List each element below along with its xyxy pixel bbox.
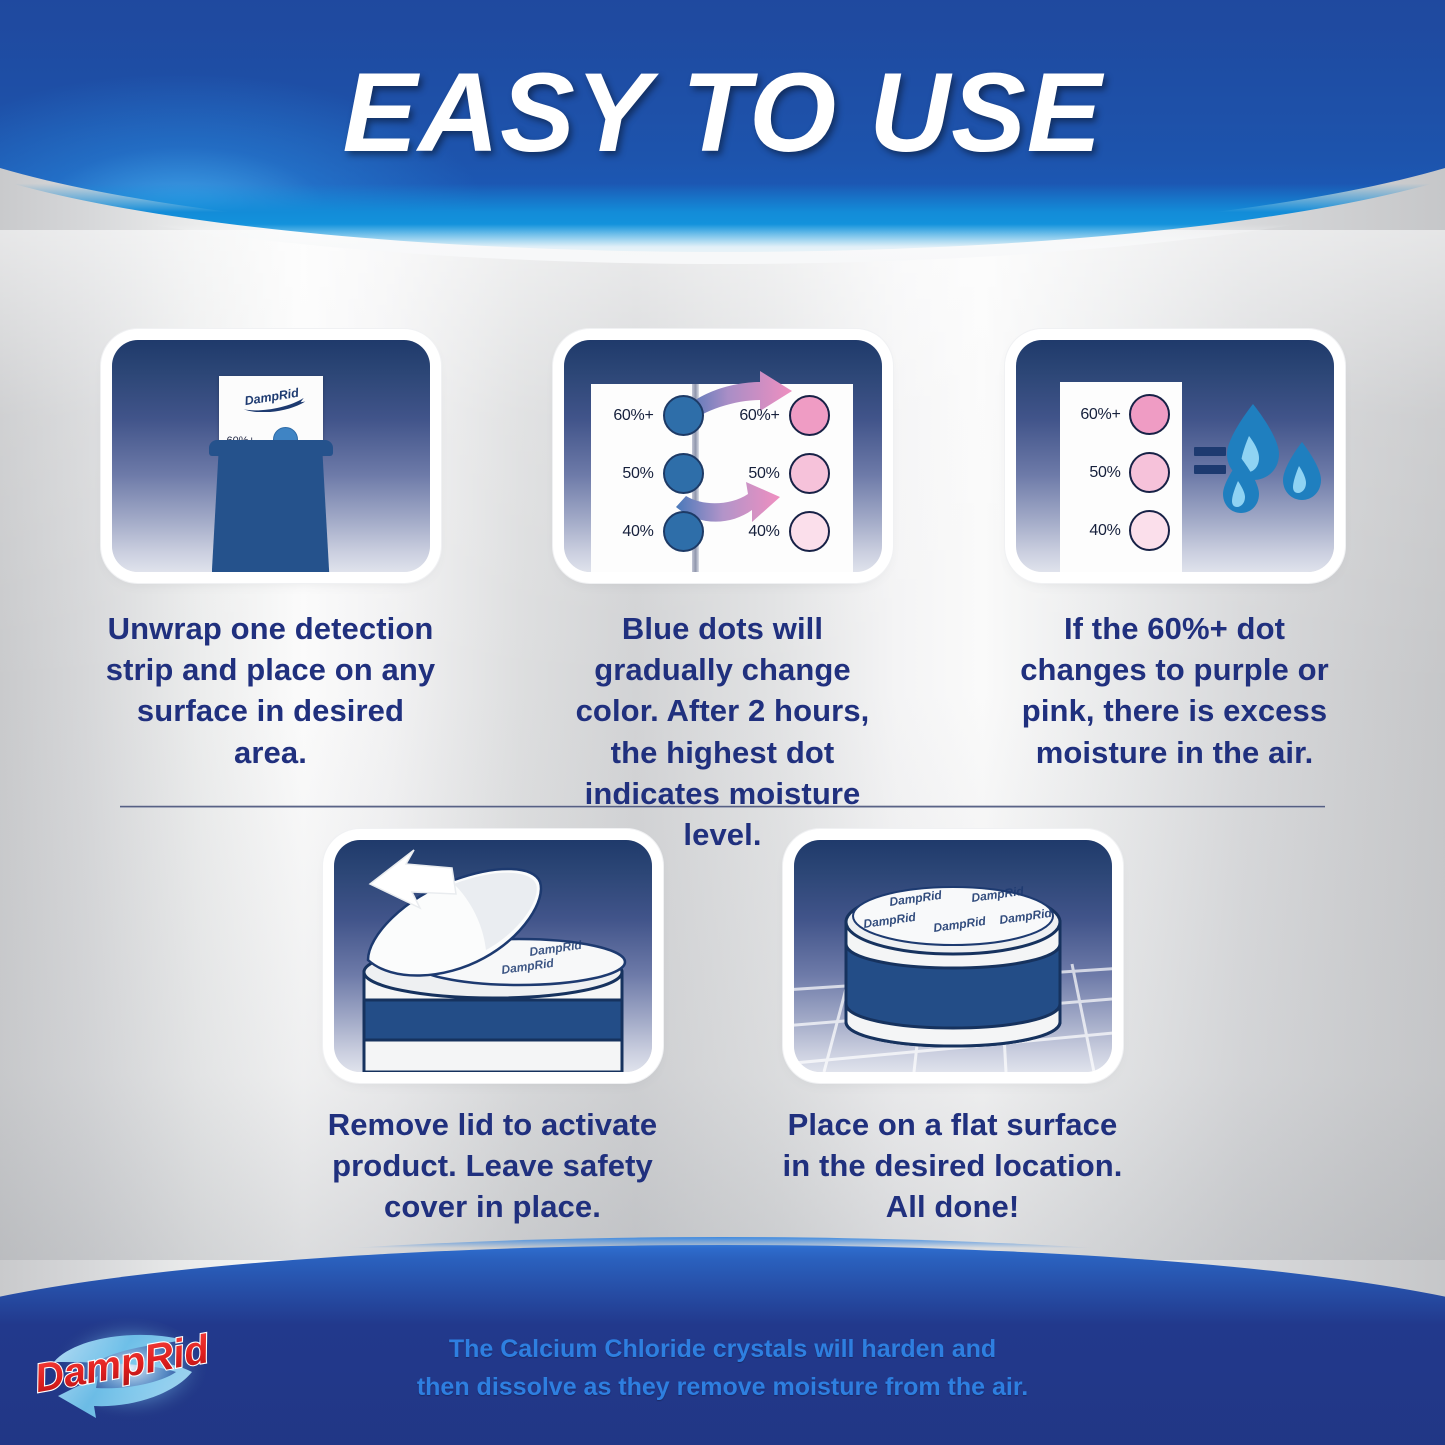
- after-label-40: 40%: [728, 523, 780, 541]
- container-body: [212, 452, 330, 572]
- step-place-flat-caption: Place on a flat surface in the desired l…: [783, 1104, 1123, 1228]
- step-excess-moisture-illustration: 60%+ 50% 40%: [1016, 340, 1334, 572]
- before-label-40: 40%: [602, 523, 654, 541]
- pink-dot-60-icon: [1129, 394, 1170, 435]
- step-excess-moisture: 60%+ 50% 40%: [1005, 340, 1345, 855]
- steps-row-1: DampRid 60%+ Unwrap one detection strip …: [60, 340, 1385, 855]
- step-excess-moisture-caption: If the 60%+ dot changes to purple or pin…: [1005, 608, 1345, 773]
- pink-label-40: 40%: [1071, 522, 1121, 540]
- infographic-root: EASY TO USE DampRid 60%+: [0, 0, 1445, 1445]
- after-row-50: 50%: [728, 453, 830, 494]
- pink-dot-50-icon: [1129, 452, 1170, 493]
- step-place-flat: DampRid DampRid DampRid DampRid DampRid …: [783, 840, 1123, 1228]
- tub-lid-removal-art: DampRid DampRid: [334, 840, 652, 1072]
- before-row-50: 50%: [602, 453, 704, 494]
- pink-label-50: 50%: [1071, 464, 1121, 482]
- after-dot-50-icon: [789, 453, 830, 494]
- pink-label-60: 60%+: [1071, 406, 1121, 424]
- damprid-logo-icon: DampRid: [229, 386, 315, 412]
- tub-on-floor-art: DampRid DampRid DampRid DampRid DampRid: [794, 840, 1112, 1072]
- step-remove-lid-illustration: DampRid DampRid: [334, 840, 652, 1072]
- damprid-brand-logo: DampRid: [24, 1310, 224, 1435]
- after-label-50: 50%: [728, 465, 780, 483]
- pink-row-50: 50%: [1071, 452, 1170, 493]
- after-dot-60-icon: [789, 395, 830, 436]
- step-color-change-illustration: 60%+ 50% 40% 60%+ 50%: [564, 340, 882, 572]
- water-droplets-icon: [1221, 398, 1329, 516]
- before-row-60: 60%+: [602, 395, 704, 436]
- after-label-60: 60%+: [728, 407, 780, 425]
- after-row-40: 40%: [728, 511, 830, 552]
- before-row-40: 40%: [602, 511, 704, 552]
- pink-row-40: 40%: [1071, 510, 1170, 551]
- step-color-change-caption: Blue dots will gradually change color. A…: [553, 608, 893, 855]
- step-color-change: 60%+ 50% 40% 60%+ 50%: [553, 340, 893, 855]
- before-dot-60-icon: [663, 395, 704, 436]
- pink-dot-40-icon: [1129, 510, 1170, 551]
- step-unwrap-illustration: DampRid 60%+: [112, 340, 430, 572]
- before-label-60: 60%+: [602, 407, 654, 425]
- step-place-flat-illustration: DampRid DampRid DampRid DampRid DampRid: [794, 840, 1112, 1072]
- step-remove-lid-caption: Remove lid to activate product. Leave sa…: [323, 1104, 663, 1228]
- pink-row-60: 60%+: [1071, 394, 1170, 435]
- after-dot-40-icon: [789, 511, 830, 552]
- damprid-logo-icon: DampRid: [24, 1310, 224, 1435]
- step-unwrap: DampRid 60%+ Unwrap one detection strip …: [101, 340, 441, 855]
- before-dot-40-icon: [663, 511, 704, 552]
- steps-row-2: DampRid DampRid Remove lid to activate p…: [290, 840, 1155, 1228]
- page-title: EASY TO USE: [0, 48, 1445, 177]
- before-dot-50-icon: [663, 453, 704, 494]
- before-label-50: 50%: [602, 465, 654, 483]
- step-remove-lid: DampRid DampRid Remove lid to activate p…: [323, 840, 663, 1228]
- after-row-60: 60%+: [728, 395, 830, 436]
- step-unwrap-caption: Unwrap one detection strip and place on …: [101, 608, 441, 773]
